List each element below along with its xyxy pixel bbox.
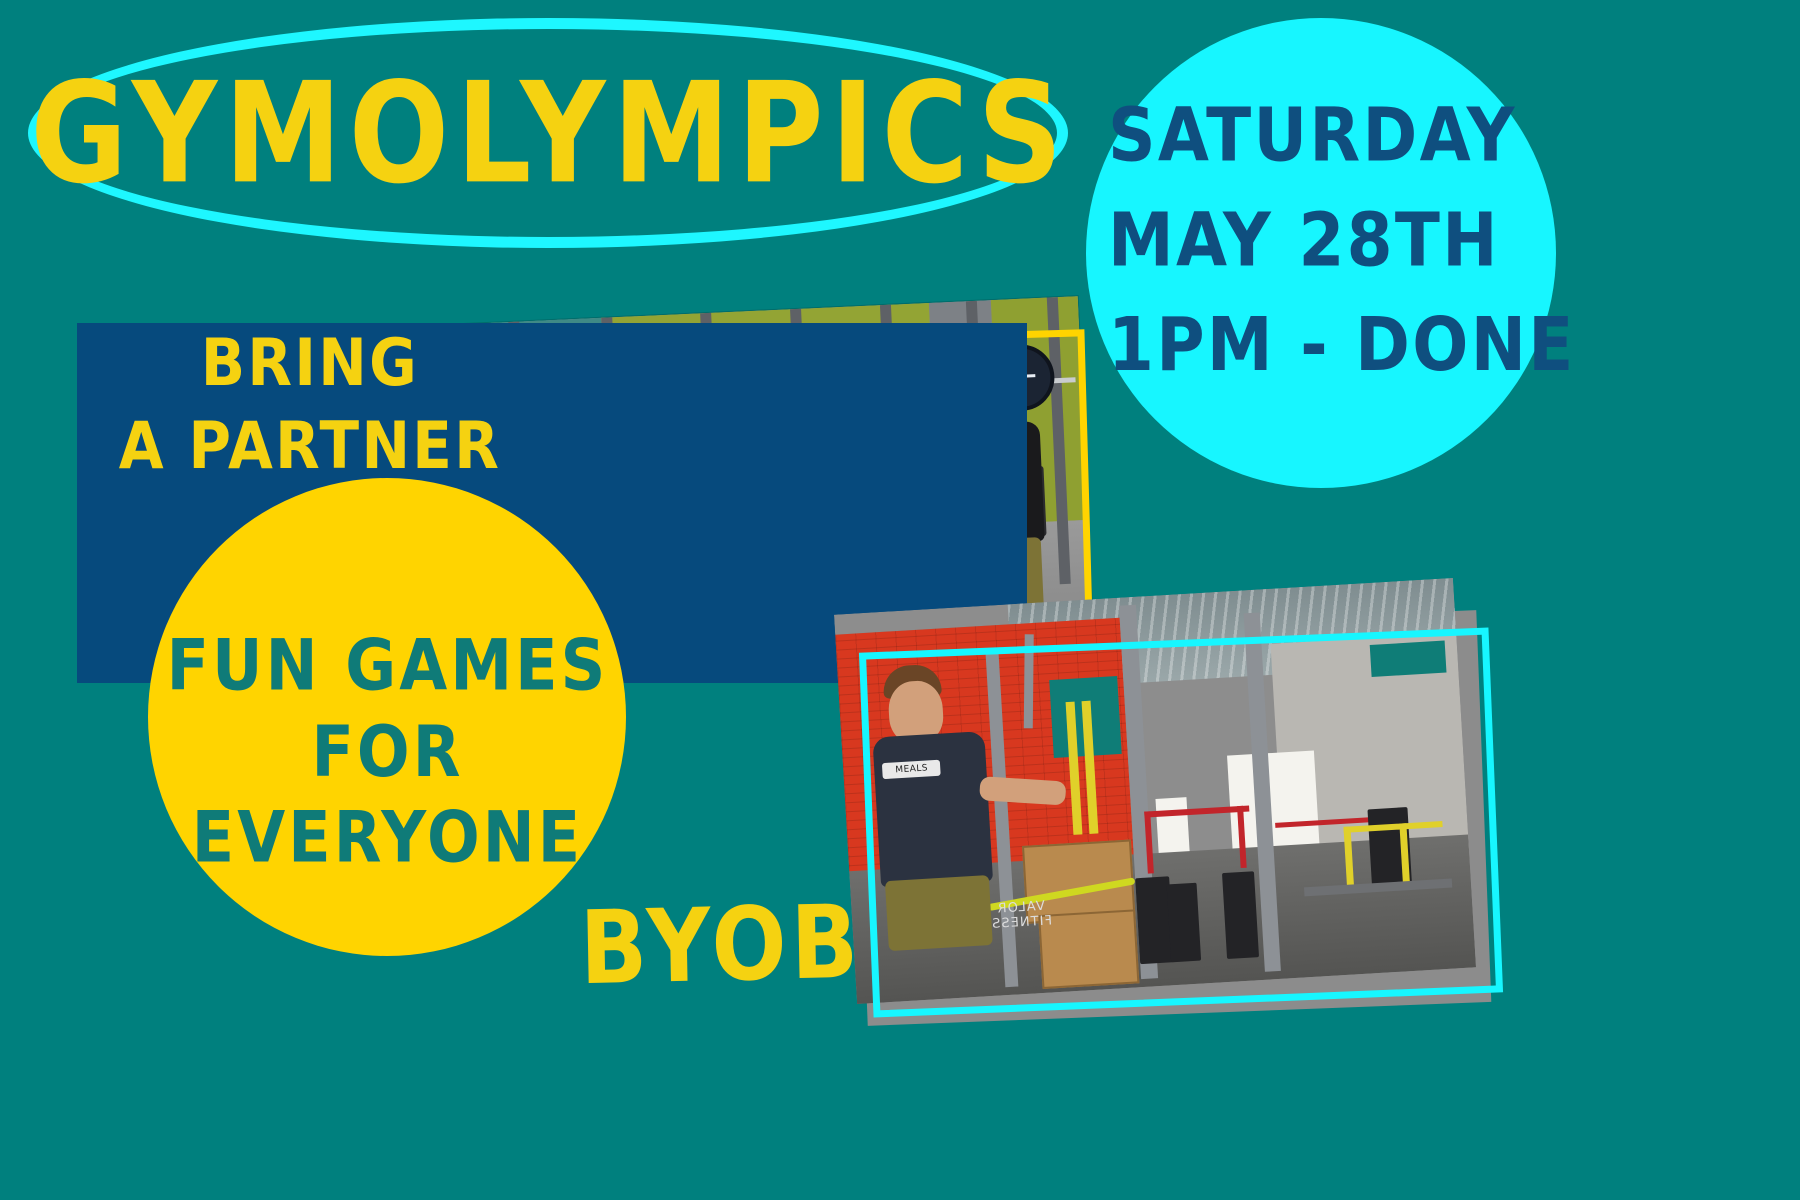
- fun-games-line-2: FOR: [155, 708, 620, 794]
- bring-partner-line-2: A PARTNER: [100, 404, 520, 487]
- page-title: GYM OLYMPICS: [60, 45, 1040, 222]
- bring-partner-line-1: BRING: [100, 321, 520, 404]
- fun-games-line-1: FUN GAMES: [155, 622, 620, 708]
- date-line-day: SATURDAY: [1108, 83, 1800, 188]
- date-line-date: MAY 28TH: [1108, 188, 1800, 293]
- poster-canvas: LOWE'S: [0, 0, 1800, 1200]
- byob-text: BYOB: [579, 889, 981, 1000]
- title-word-gym: GYM: [30, 63, 348, 202]
- fun-games-text: FUN GAMES FOR EVERYONE: [155, 622, 620, 881]
- date-badge: SATURDAY MAY 28TH 1PM - DONE: [1108, 83, 1800, 398]
- date-line-time: 1PM - DONE: [1108, 293, 1800, 398]
- fun-games-line-3: EVERYONE: [155, 795, 620, 881]
- title-word-olympics: OLYMPICS: [349, 63, 1070, 202]
- bring-partner-text: BRING A PARTNER: [100, 321, 520, 487]
